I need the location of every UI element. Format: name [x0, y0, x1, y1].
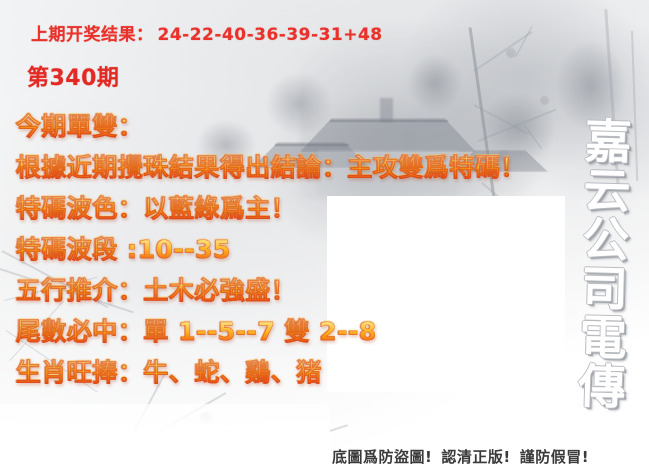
- prediction-body: 今期單雙： 今期單雙： 根據近期攪珠結果得出結論：主攻雙爲特碼！ 根據近期攪珠結…: [16, 110, 576, 397]
- prediction-line: 特碼波段 :10--35 特碼波段 :10--35: [16, 233, 576, 274]
- prediction-line-text: 根據近期攪珠結果得出結論：主攻雙爲特碼！: [16, 151, 526, 184]
- watermark-char: 云: [583, 166, 631, 216]
- prediction-line: 今期單雙： 今期單雙：: [16, 110, 576, 151]
- last-draw-result: 上期开奖结果：24-22-40-36-39-31+48: [31, 20, 383, 45]
- notice-part: 底圖爲防盜圖!: [332, 448, 432, 466]
- background-white-panel-bottom: [0, 404, 330, 476]
- background-blossom-b: [540, 96, 549, 105]
- prediction-line: 生肖旺捧：牛、蛇、鷄、猪 生肖旺捧：牛、蛇、鷄、猪: [16, 356, 576, 397]
- background-branch-far-right-2: [631, 31, 638, 181]
- watermark-char: 司: [580, 264, 628, 314]
- last-draw-numbers: 24-22-40-36-39-31+48: [158, 25, 383, 45]
- anti-counterfeit-notice: 底圖爲防盜圖!認清正版!謹防假冒!: [332, 446, 598, 467]
- background-pine-b: [408, 54, 462, 112]
- issue-number: 第340期: [27, 60, 119, 92]
- prediction-line-text: 特碼波色：以藍綠爲主！: [16, 192, 297, 225]
- prediction-line: 特碼波色：以藍綠爲主！ 特碼波色：以藍綠爲主！: [16, 192, 576, 233]
- notice-part: 謹防假冒!: [520, 448, 589, 466]
- prediction-line: 尾數必中：單 1--5--7 雙 2--8 尾數必中：單 1--5--7 雙 2…: [16, 315, 576, 356]
- background-blossom-a: [506, 48, 516, 58]
- lottery-poster: 嘉 云 公 司 電 傳 上期开奖结果：24-22-40-36-39-31+48 …: [0, 0, 649, 476]
- prediction-line-text: 尾數必中：單 1--5--7 雙 2--8: [16, 315, 377, 348]
- prediction-line-text: 五行推介：土木必強盛！: [16, 274, 297, 307]
- last-draw-label: 上期开奖结果：: [31, 25, 154, 45]
- prediction-line-text: 今期單雙：: [16, 110, 144, 143]
- notice-part: 認清正版!: [441, 448, 510, 466]
- watermark-char: 電: [579, 313, 627, 363]
- prediction-line: 根據近期攪珠結果得出結論：主攻雙爲特碼！ 根據近期攪珠結果得出結論：主攻雙爲特碼…: [16, 151, 576, 192]
- prediction-line: 五行推介：土木必強盛！ 五行推介：土木必強盛！: [16, 274, 576, 315]
- watermark-char: 傳: [578, 362, 626, 412]
- prediction-line-text: 生肖旺捧：牛、蛇、鷄、猪: [16, 356, 322, 389]
- background-branch-right-a: [473, 31, 532, 72]
- prediction-line-text: 特碼波段 :10--35: [16, 233, 231, 266]
- watermark-char: 公: [582, 215, 630, 265]
